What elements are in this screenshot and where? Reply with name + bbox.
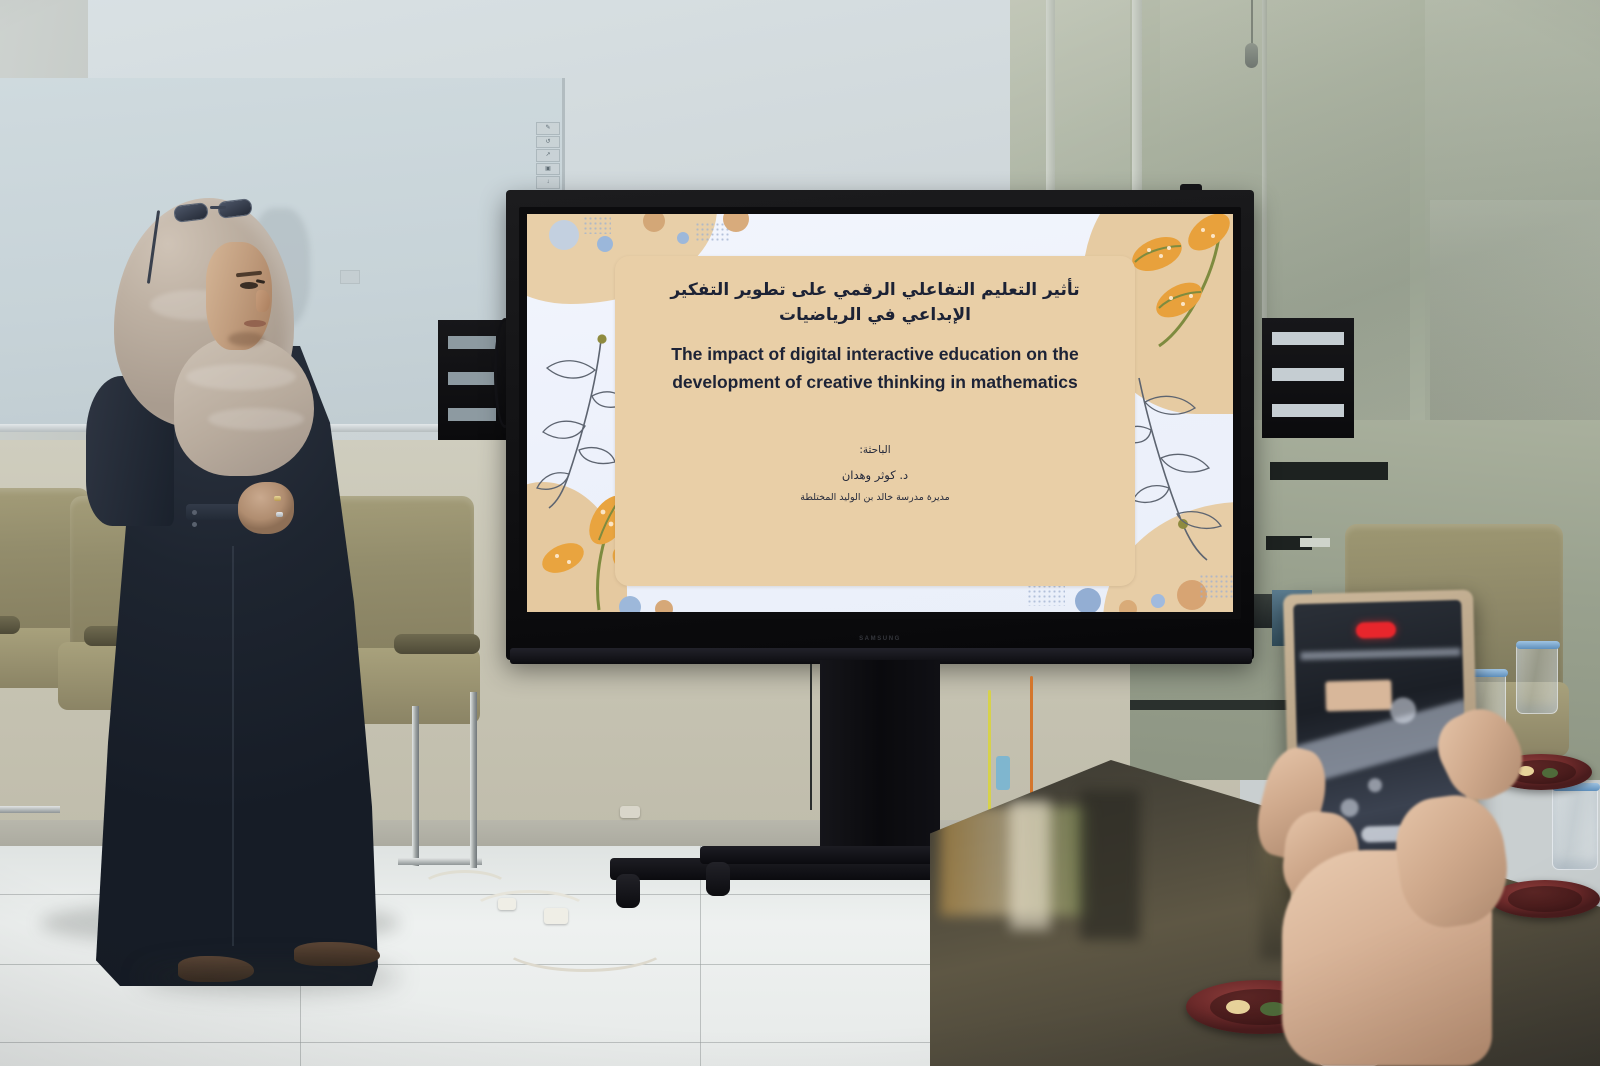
presenter-nose: [256, 290, 270, 312]
side-speaker-right: [1262, 318, 1354, 438]
slide-text-card: تأثير التعليم التفاعلي الرقمي على تطوير …: [615, 256, 1135, 586]
presenter-hands: [238, 482, 294, 534]
slide-title-english: The impact of digital interactive educat…: [629, 340, 1121, 397]
sunglasses-on-head: [170, 192, 290, 232]
equipment-label: [1300, 538, 1330, 547]
researcher-role: مديرة مدرسة خالد بن الوليد المختلطة: [635, 492, 1115, 503]
pen-icon[interactable]: ✎: [536, 122, 560, 135]
yellow-cable: [988, 690, 991, 810]
coat-seam: [232, 546, 234, 946]
presentation-room-photo: ✎ ↺ ↗ ▣ ↓: [0, 0, 1600, 1066]
line-art-branch-left: [535, 334, 627, 509]
line-art-branch-right: [1123, 372, 1229, 562]
wall-socket[interactable]: [620, 806, 640, 818]
save-icon[interactable]: ▣: [536, 163, 560, 176]
presenter-eye: [240, 282, 258, 289]
share-icon[interactable]: ↗: [536, 149, 560, 162]
presenter-lips: [244, 320, 266, 327]
stand-caster[interactable]: [616, 874, 640, 908]
undo-icon[interactable]: ↺: [536, 136, 560, 149]
wall-rail: [1270, 462, 1388, 480]
display-power-cable: [810, 664, 812, 810]
researcher-name: د. كوثر وهدان: [635, 468, 1115, 482]
hand-holding-phone: [1262, 700, 1532, 1066]
presenter: [78, 186, 378, 986]
extension-cord: [420, 870, 510, 906]
door-lock[interactable]: [1245, 43, 1258, 68]
display-screen[interactable]: تأثير التعليم التفاعلي الرقمي على تطوير …: [527, 214, 1233, 612]
extension-cord: [500, 918, 670, 972]
power-strip[interactable]: [544, 908, 568, 924]
power-plug[interactable]: [498, 898, 516, 910]
stand-caster[interactable]: [706, 862, 730, 896]
record-indicator-red: [1356, 622, 1396, 639]
presentation-slide: تأثير التعليم التفاعلي الرقمي على تطوير …: [527, 214, 1233, 612]
researcher-label: الباحثة:: [635, 444, 1115, 456]
water-glass[interactable]: [1552, 786, 1598, 870]
display-stand-column: [820, 660, 940, 860]
presenter-hijab-drape: [174, 336, 314, 476]
orange-cable: [1030, 676, 1033, 796]
display-brand-logo: SAMSUNG: [852, 636, 908, 643]
door-pull-wire: [1251, 0, 1253, 44]
slide-title-arabic: تأثير التعليم التفاعلي الرقمي على تطوير …: [635, 278, 1115, 328]
download-icon[interactable]: ↓: [536, 176, 560, 189]
blue-cable-tag: [996, 756, 1010, 790]
